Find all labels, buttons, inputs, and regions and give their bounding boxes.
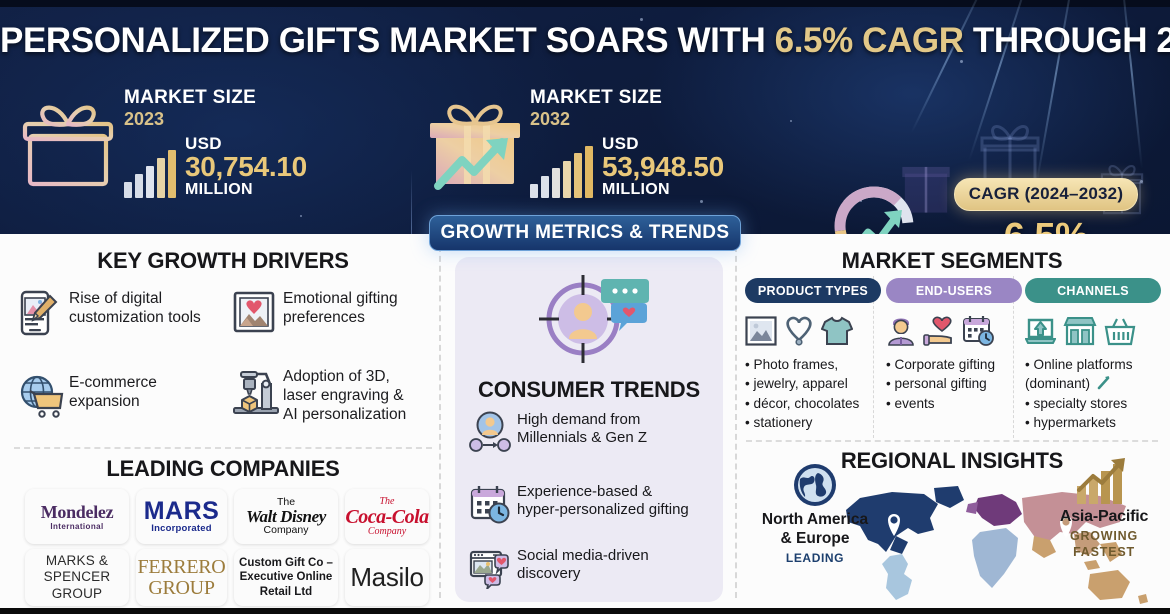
segment-icons: [886, 312, 1022, 346]
stat-currency: USD: [185, 135, 307, 152]
company-logo-custom-gift-co: Custom Gift Co –Executive OnlineRetail L…: [239, 556, 333, 598]
storefront-icon: [1063, 316, 1097, 346]
driver-item: E-commerceexpansion: [18, 374, 218, 416]
mini-bar-chart: [530, 150, 593, 198]
page-title: PERSONALIZED GIFTS MARKET SOARS WITH 6.5…: [0, 21, 1170, 61]
target-person-chat-icon: [527, 269, 655, 374]
consumer-trend-item: Social media-drivendiscovery: [469, 547, 715, 587]
driver-label: Emotional giftingpreferences: [283, 290, 398, 328]
stat-label: MARKET SIZE: [124, 88, 307, 108]
divider-drivers-companies: [14, 447, 432, 449]
driver-label: Adoption of 3D,laser engraving &AI perso…: [283, 368, 406, 425]
segment-badge: END-USERS: [886, 278, 1022, 303]
segment-items: • Photo frames, • jewelry, apparel • déc…: [745, 355, 881, 432]
smartphone-edit-icon: [18, 290, 60, 332]
drivers-title: KEY GROWTH DRIVERS: [14, 248, 432, 274]
user-demographic-icon: [469, 411, 509, 451]
company-logo-cocacola: The Coca-Cola Company: [345, 497, 428, 537]
stat-unit: MILLION: [185, 182, 307, 198]
divider-segments-regional: [746, 440, 1158, 442]
laptop-upload-icon: [1025, 316, 1056, 346]
divider-left: [439, 246, 441, 598]
stat-market-size-2032: MARKET SIZE 2032 USD 5: [428, 88, 724, 198]
company-card[interactable]: The Coca-Cola Company: [345, 489, 429, 544]
company-logo-ferrero: FERREROGROUP: [138, 557, 226, 598]
region-leading: North America& Europe LEADING: [745, 496, 885, 565]
stat-label: MARKET SIZE: [530, 88, 724, 108]
region-status: LEADING: [745, 551, 885, 565]
globe-cart-icon: [18, 374, 60, 416]
stat-market-size-2023: MARKET SIZE 2023 USD 30,754.10: [22, 88, 307, 198]
photo-frame-icon: [745, 316, 777, 346]
cagr-value: 6.5%: [930, 216, 1162, 234]
cagr-badge: CAGR (2024–2032): [954, 178, 1138, 211]
company-card[interactable]: MARKS &SPENCERGROUP: [25, 549, 129, 606]
segment-icons: [745, 312, 881, 346]
tshirt-icon: [821, 316, 853, 346]
photo-heart-icon: [232, 290, 274, 332]
company-logo-disney: The Walt Disney Company: [246, 497, 326, 537]
gift-outline-icon: [22, 99, 114, 187]
company-logo-mondelez: Mondelez International: [41, 502, 114, 531]
consumer-trend-label: High demand fromMillennials & Gen Z: [517, 411, 647, 448]
company-logo-marks-spencer: MARKS &SPENCERGROUP: [44, 553, 111, 602]
stat-value: 30,754.10: [185, 152, 307, 182]
social-media-photo-icon: [469, 547, 509, 587]
shopping-basket-icon: [1104, 316, 1136, 346]
businessman-icon: [886, 314, 916, 346]
body-content: KEY GROWTH DRIVERS Rise of digitalcustom…: [0, 234, 1170, 608]
segment-column-end-users: END-USERS: [886, 278, 1022, 413]
driver-label: Rise of digitalcustomization tools: [69, 290, 201, 328]
driver-label: E-commerceexpansion: [69, 374, 157, 412]
company-card[interactable]: MARS Incorporated: [136, 489, 227, 544]
globe-icon: [792, 462, 838, 508]
hand-heart-icon: [923, 316, 955, 346]
region-name: Asia-Pacific: [1040, 508, 1168, 526]
segment-icons: [1025, 312, 1161, 346]
growth-metrics-ribbon: GROWTH METRICS & TRENDS: [429, 215, 741, 251]
driver-item: Adoption of 3D,laser engraving &AI perso…: [232, 368, 437, 425]
header-top-strip: [0, 0, 1170, 7]
donut-growth-icon: [828, 180, 920, 234]
consumer-trend-item: High demand fromMillennials & Gen Z: [469, 411, 715, 451]
cagr-block: CAGR (2024–2032) 6.5%: [930, 178, 1162, 234]
company-logo-mars: MARS Incorporated: [144, 500, 220, 534]
company-card[interactable]: Masilo: [345, 549, 429, 606]
footer-strip: [0, 608, 1170, 614]
consumer-trend-label: Experience-based &hyper-personalized gif…: [517, 483, 689, 520]
region-status: GROWINGFASTEST: [1040, 528, 1168, 561]
company-card[interactable]: Custom Gift Co –Executive OnlineRetail L…: [234, 549, 338, 606]
segment-column-channels: CHANNELS: [1025, 278, 1161, 432]
region-name: North America& Europe: [745, 511, 885, 548]
stat-unit: MILLION: [602, 182, 724, 198]
stat-year: 2032: [530, 109, 724, 131]
companies-title: LEADING COMPANIES: [14, 456, 432, 482]
company-card[interactable]: FERREROGROUP: [136, 549, 227, 606]
consumer-trends-title: CONSUMER TRENDS: [455, 377, 723, 403]
segment-items: • Corporate gifting • personal gifting •…: [886, 355, 1022, 413]
up-arrow-icon: [1097, 375, 1112, 390]
company-logo-masilo: Masilo: [350, 562, 423, 593]
infographic-page: PERSONALIZED GIFTS MARKET SOARS WITH 6.5…: [0, 0, 1170, 614]
consumer-trend-item: Experience-based &hyper-personalized gif…: [469, 483, 715, 523]
region-fastest: Asia-Pacific GROWINGFASTEST: [1040, 502, 1168, 561]
consumer-trends-panel: CONSUMER TRENDS High demand fromMillenni…: [455, 257, 723, 602]
title-part-2: THROUGH 2032: [964, 21, 1170, 60]
header-banner: PERSONALIZED GIFTS MARKET SOARS WITH 6.5…: [0, 0, 1170, 234]
gift-growth-icon: [428, 98, 520, 188]
stat-currency: USD: [602, 135, 724, 152]
title-part-1: PERSONALIZED GIFTS MARKET SOARS WITH: [0, 21, 775, 60]
driver-item: Rise of digitalcustomization tools: [18, 290, 218, 332]
stat-year: 2023: [124, 109, 307, 131]
jewelry-heart-icon: [784, 314, 814, 346]
mini-bar-chart: [124, 150, 176, 198]
segment-column-product-types: PRODUCT TYPES • Photo frames, •: [745, 278, 881, 432]
header-stats-row: MARKET SIZE 2023 USD 30,754.10: [0, 82, 1170, 212]
calendar-event-icon: [962, 314, 994, 346]
company-card[interactable]: The Walt Disney Company: [234, 489, 338, 544]
robot-arm-3d-print-icon: [232, 368, 274, 410]
consumer-trend-label: Social media-drivendiscovery: [517, 547, 649, 584]
title-accent: 6.5% CAGR: [775, 21, 964, 60]
stat-value: 53,948.50: [602, 152, 724, 182]
segments-title: MARKET SEGMENTS: [746, 248, 1158, 274]
divider-right: [735, 246, 737, 598]
bar-chart-arrow-up-icon: [1073, 456, 1135, 506]
sparkle: [300, 215, 302, 217]
segment-badge: PRODUCT TYPES: [745, 278, 881, 303]
stat-divider: [411, 170, 412, 234]
segment-items: • Online platforms (dominant) • specialt…: [1025, 355, 1161, 432]
calendar-clock-icon: [469, 483, 509, 523]
driver-item: Emotional giftingpreferences: [232, 290, 432, 332]
segment-badge: CHANNELS: [1025, 278, 1161, 303]
company-card[interactable]: Mondelez International: [25, 489, 129, 544]
